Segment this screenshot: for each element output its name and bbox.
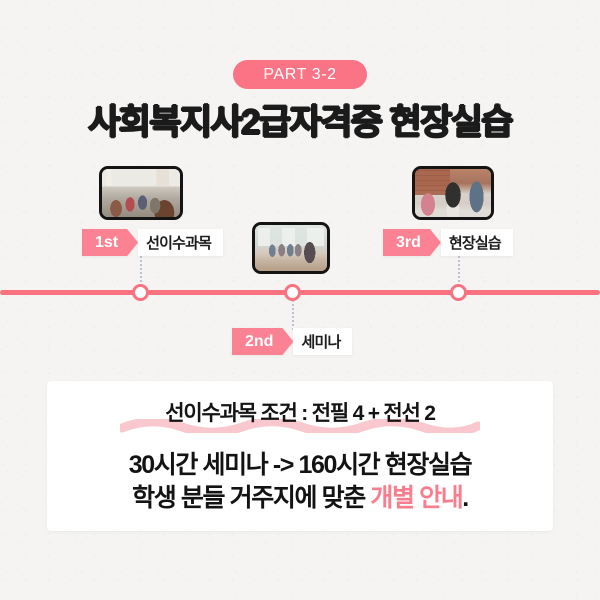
- info-body-line-2: 학생 분들 거주지에 맞춘 개별 안내.: [47, 482, 553, 515]
- step-2-number: 2nd: [232, 328, 293, 355]
- step-photo-3-image: [415, 169, 491, 217]
- page-title: 사회복지사2급자격증 현장실습: [0, 94, 600, 145]
- timeline-step-3: 3rd 현장실습: [383, 229, 513, 256]
- info-body-line-2-suffix: .: [462, 484, 468, 512]
- step-photo-2: [252, 222, 330, 274]
- timeline-step-1: 1st 선이수과목: [82, 229, 223, 256]
- timeline-dot-1: [132, 284, 149, 301]
- step-1-label: 선이수과목: [138, 229, 223, 256]
- infographic-canvas: PART 3-2 사회복지사2급자격증 현장실습 1st 선이수과목 2nd 세…: [0, 0, 600, 600]
- info-body: 30시간 세미나 -> 160시간 현장실습 학생 분들 거주지에 맞춘 개별 …: [47, 449, 553, 516]
- info-body-line-2-prefix: 학생 분들 거주지에 맞춘: [132, 484, 370, 512]
- timeline-step-2: 2nd 세미나: [232, 328, 352, 355]
- step-3-number: 3rd: [383, 229, 441, 256]
- timeline-dot-2: [284, 284, 301, 301]
- step-2-label: 세미나: [293, 328, 352, 355]
- info-body-line-2-highlight: 개별 안내: [370, 484, 462, 512]
- step-photo-3: [412, 166, 494, 220]
- step-photo-2-image: [255, 225, 327, 271]
- info-card: 선이수과목 조건 : 전필 4 + 전선 2 30시간 세미나 -> 160시간…: [47, 381, 553, 531]
- timeline-connector-3: [458, 256, 460, 286]
- timeline-dot-3: [450, 284, 467, 301]
- step-1-number: 1st: [82, 229, 138, 256]
- info-body-line-1: 30시간 세미나 -> 160시간 현장실습: [47, 449, 553, 482]
- step-photo-1: [99, 166, 183, 220]
- step-photo-1-image: [102, 169, 180, 217]
- step-3-label: 현장실습: [441, 229, 513, 256]
- part-badge: PART 3-2: [233, 60, 367, 89]
- timeline-connector-1: [140, 256, 142, 286]
- condition-text: 선이수과목 조건 : 전필 4 + 전선 2: [165, 397, 435, 427]
